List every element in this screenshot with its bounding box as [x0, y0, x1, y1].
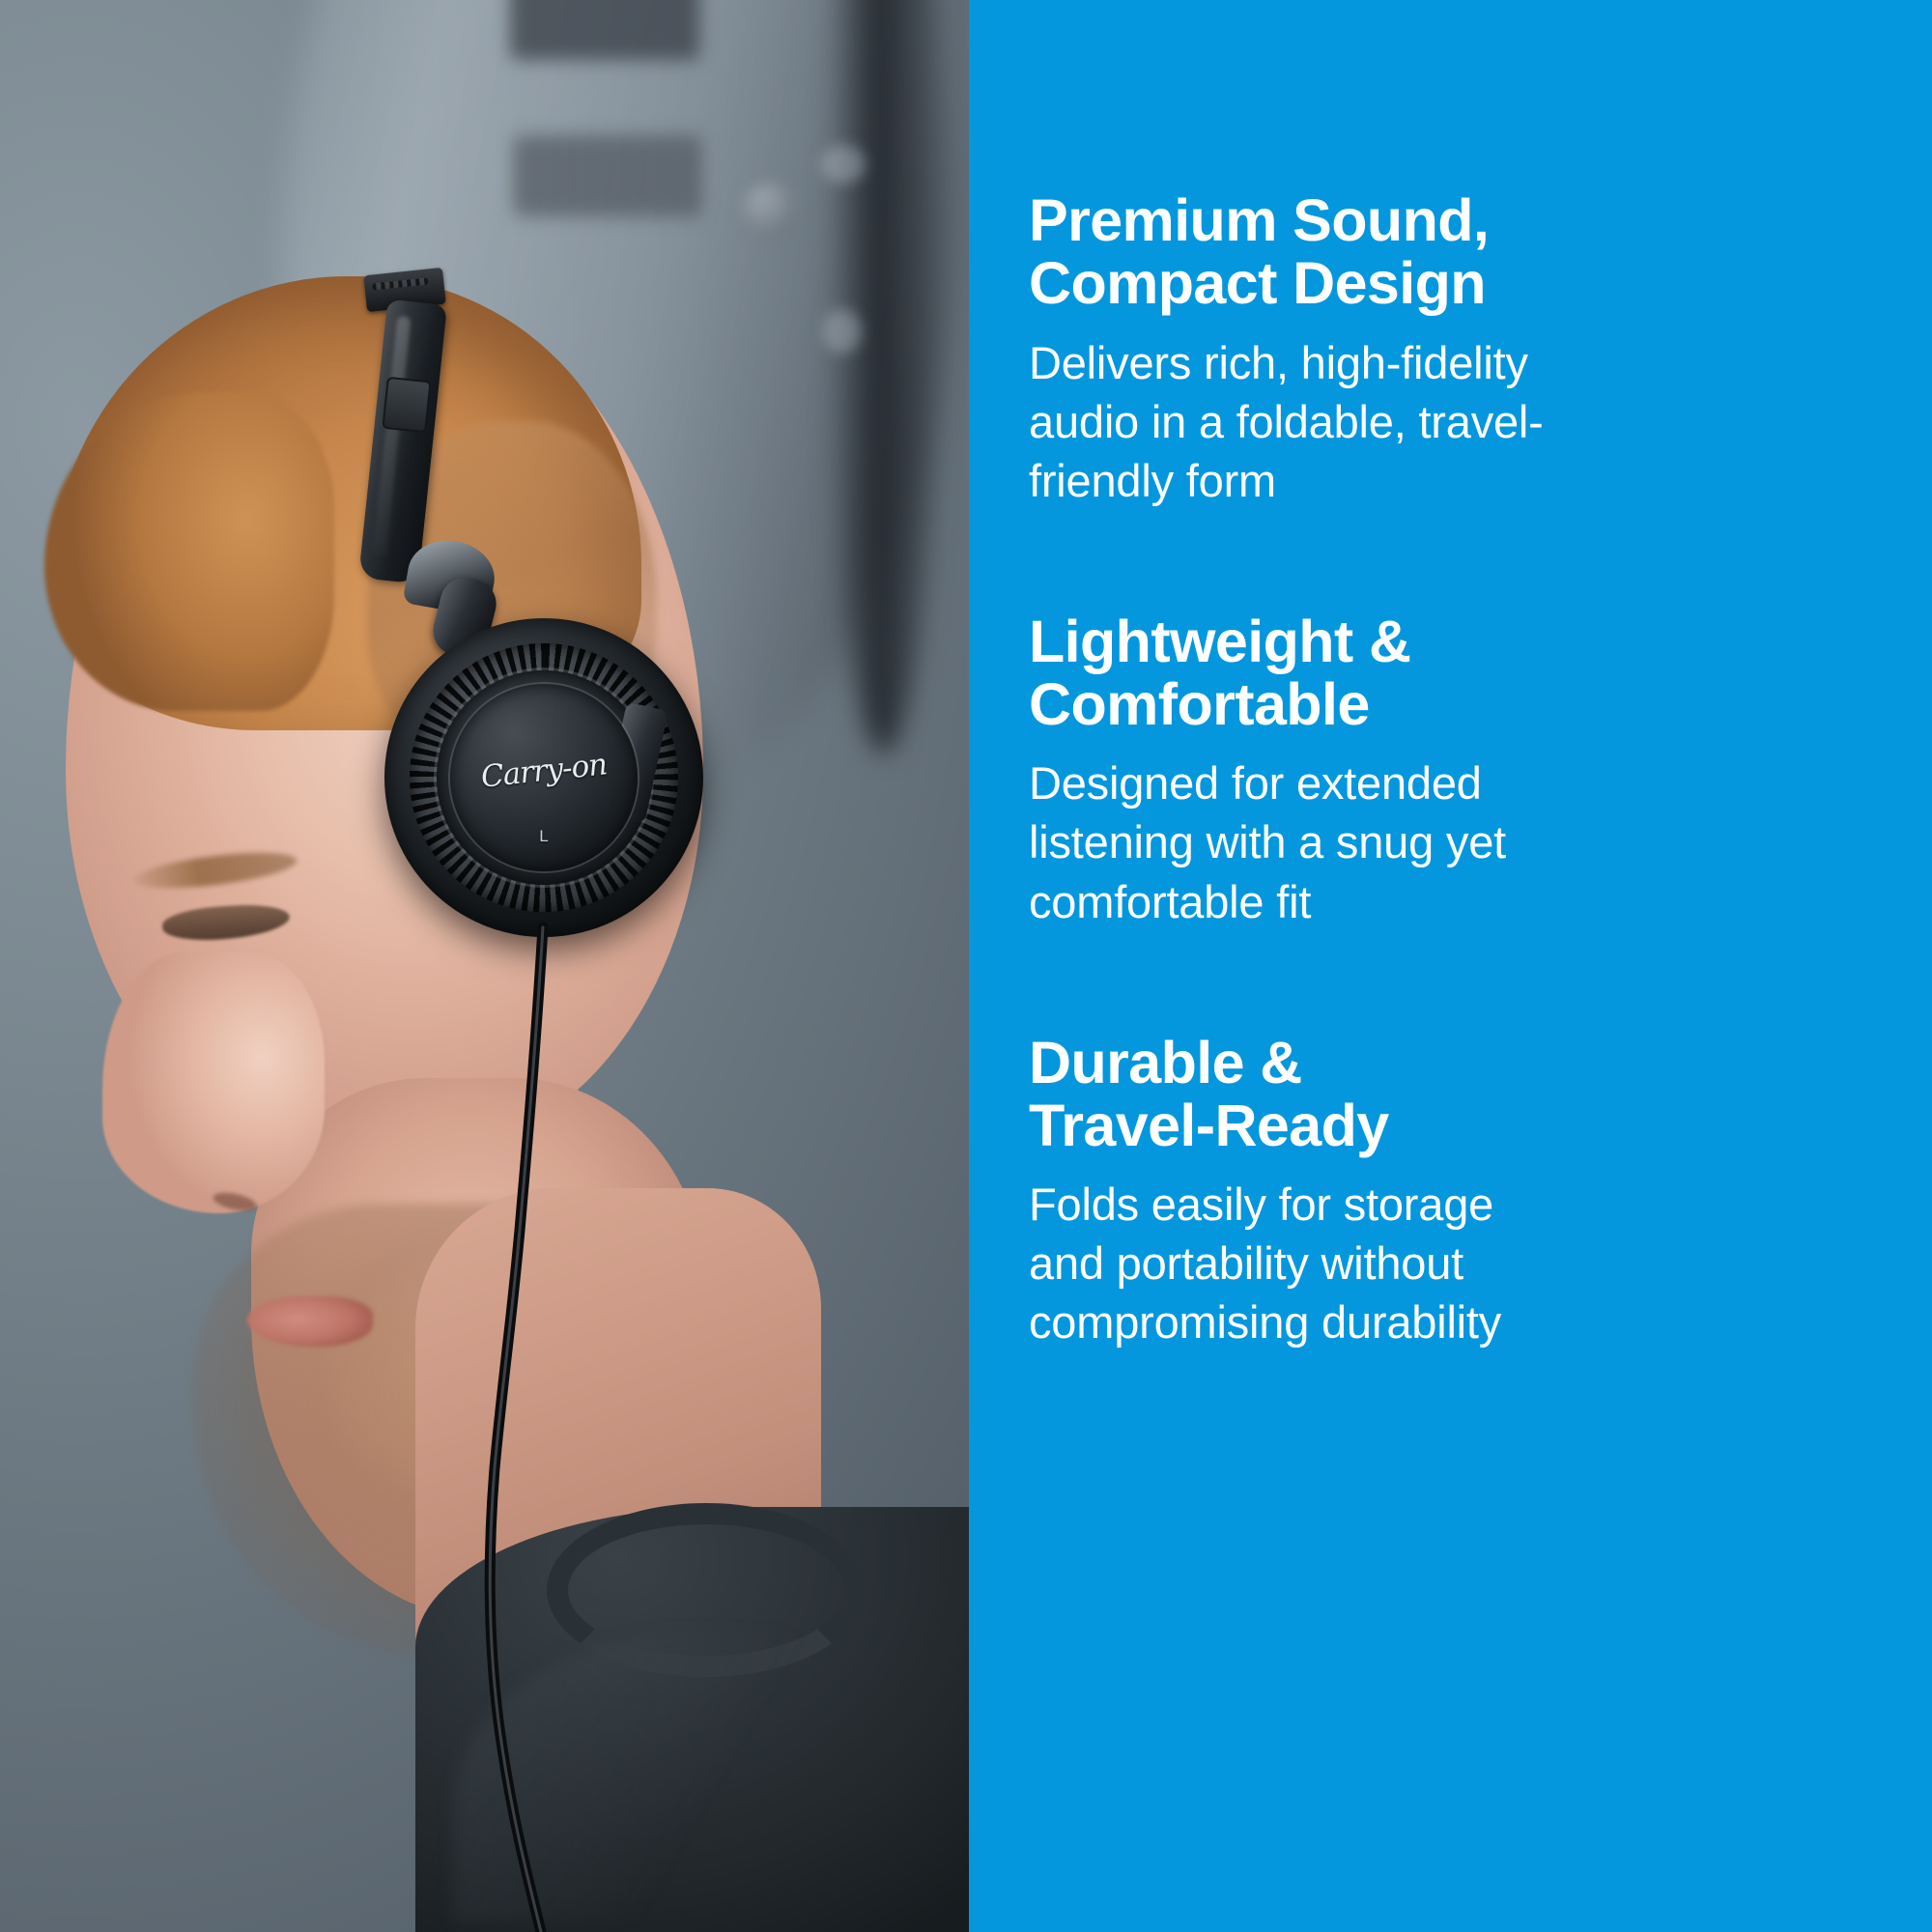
- feature-title: Premium Sound, Compact Design: [1029, 189, 1857, 316]
- headband-arm: [358, 299, 447, 584]
- headphone-cable: [0, 0, 969, 1932]
- product-feature-sheet: Carry-on L Premium Sound, Compact Design…: [0, 0, 1932, 1932]
- brand-logo-text: Carry-on: [450, 744, 638, 798]
- ear-cup-faceplate: Carry-on L: [450, 684, 638, 871]
- feature-block-premium-sound: Premium Sound, Compact Design Delivers r…: [1029, 189, 1857, 510]
- feature-block-lightweight-comfortable: Lightweight & Comfortable Designed for e…: [1029, 611, 1857, 931]
- side-marking-label: L: [450, 827, 638, 846]
- feature-body: Folds easily for storage and portability…: [1029, 1175, 1857, 1351]
- feature-text-panel: Premium Sound, Compact Design Delivers r…: [969, 0, 1932, 1932]
- feature-body: Designed for extended listening with a s…: [1029, 753, 1857, 930]
- headband-adjuster: [382, 377, 431, 434]
- feature-body: Delivers rich, high-fidelity audio in a …: [1029, 333, 1857, 510]
- feature-title: Durable & Travel-Ready: [1029, 1032, 1857, 1158]
- feature-title: Lightweight & Comfortable: [1029, 611, 1857, 737]
- feature-block-list: Premium Sound, Compact Design Delivers r…: [1029, 189, 1857, 1351]
- product-lifestyle-photo: Carry-on L: [0, 0, 969, 1932]
- feature-block-durable-travel-ready: Durable & Travel-Ready Folds easily for …: [1029, 1032, 1857, 1352]
- headphones: Carry-on L: [0, 0, 969, 1932]
